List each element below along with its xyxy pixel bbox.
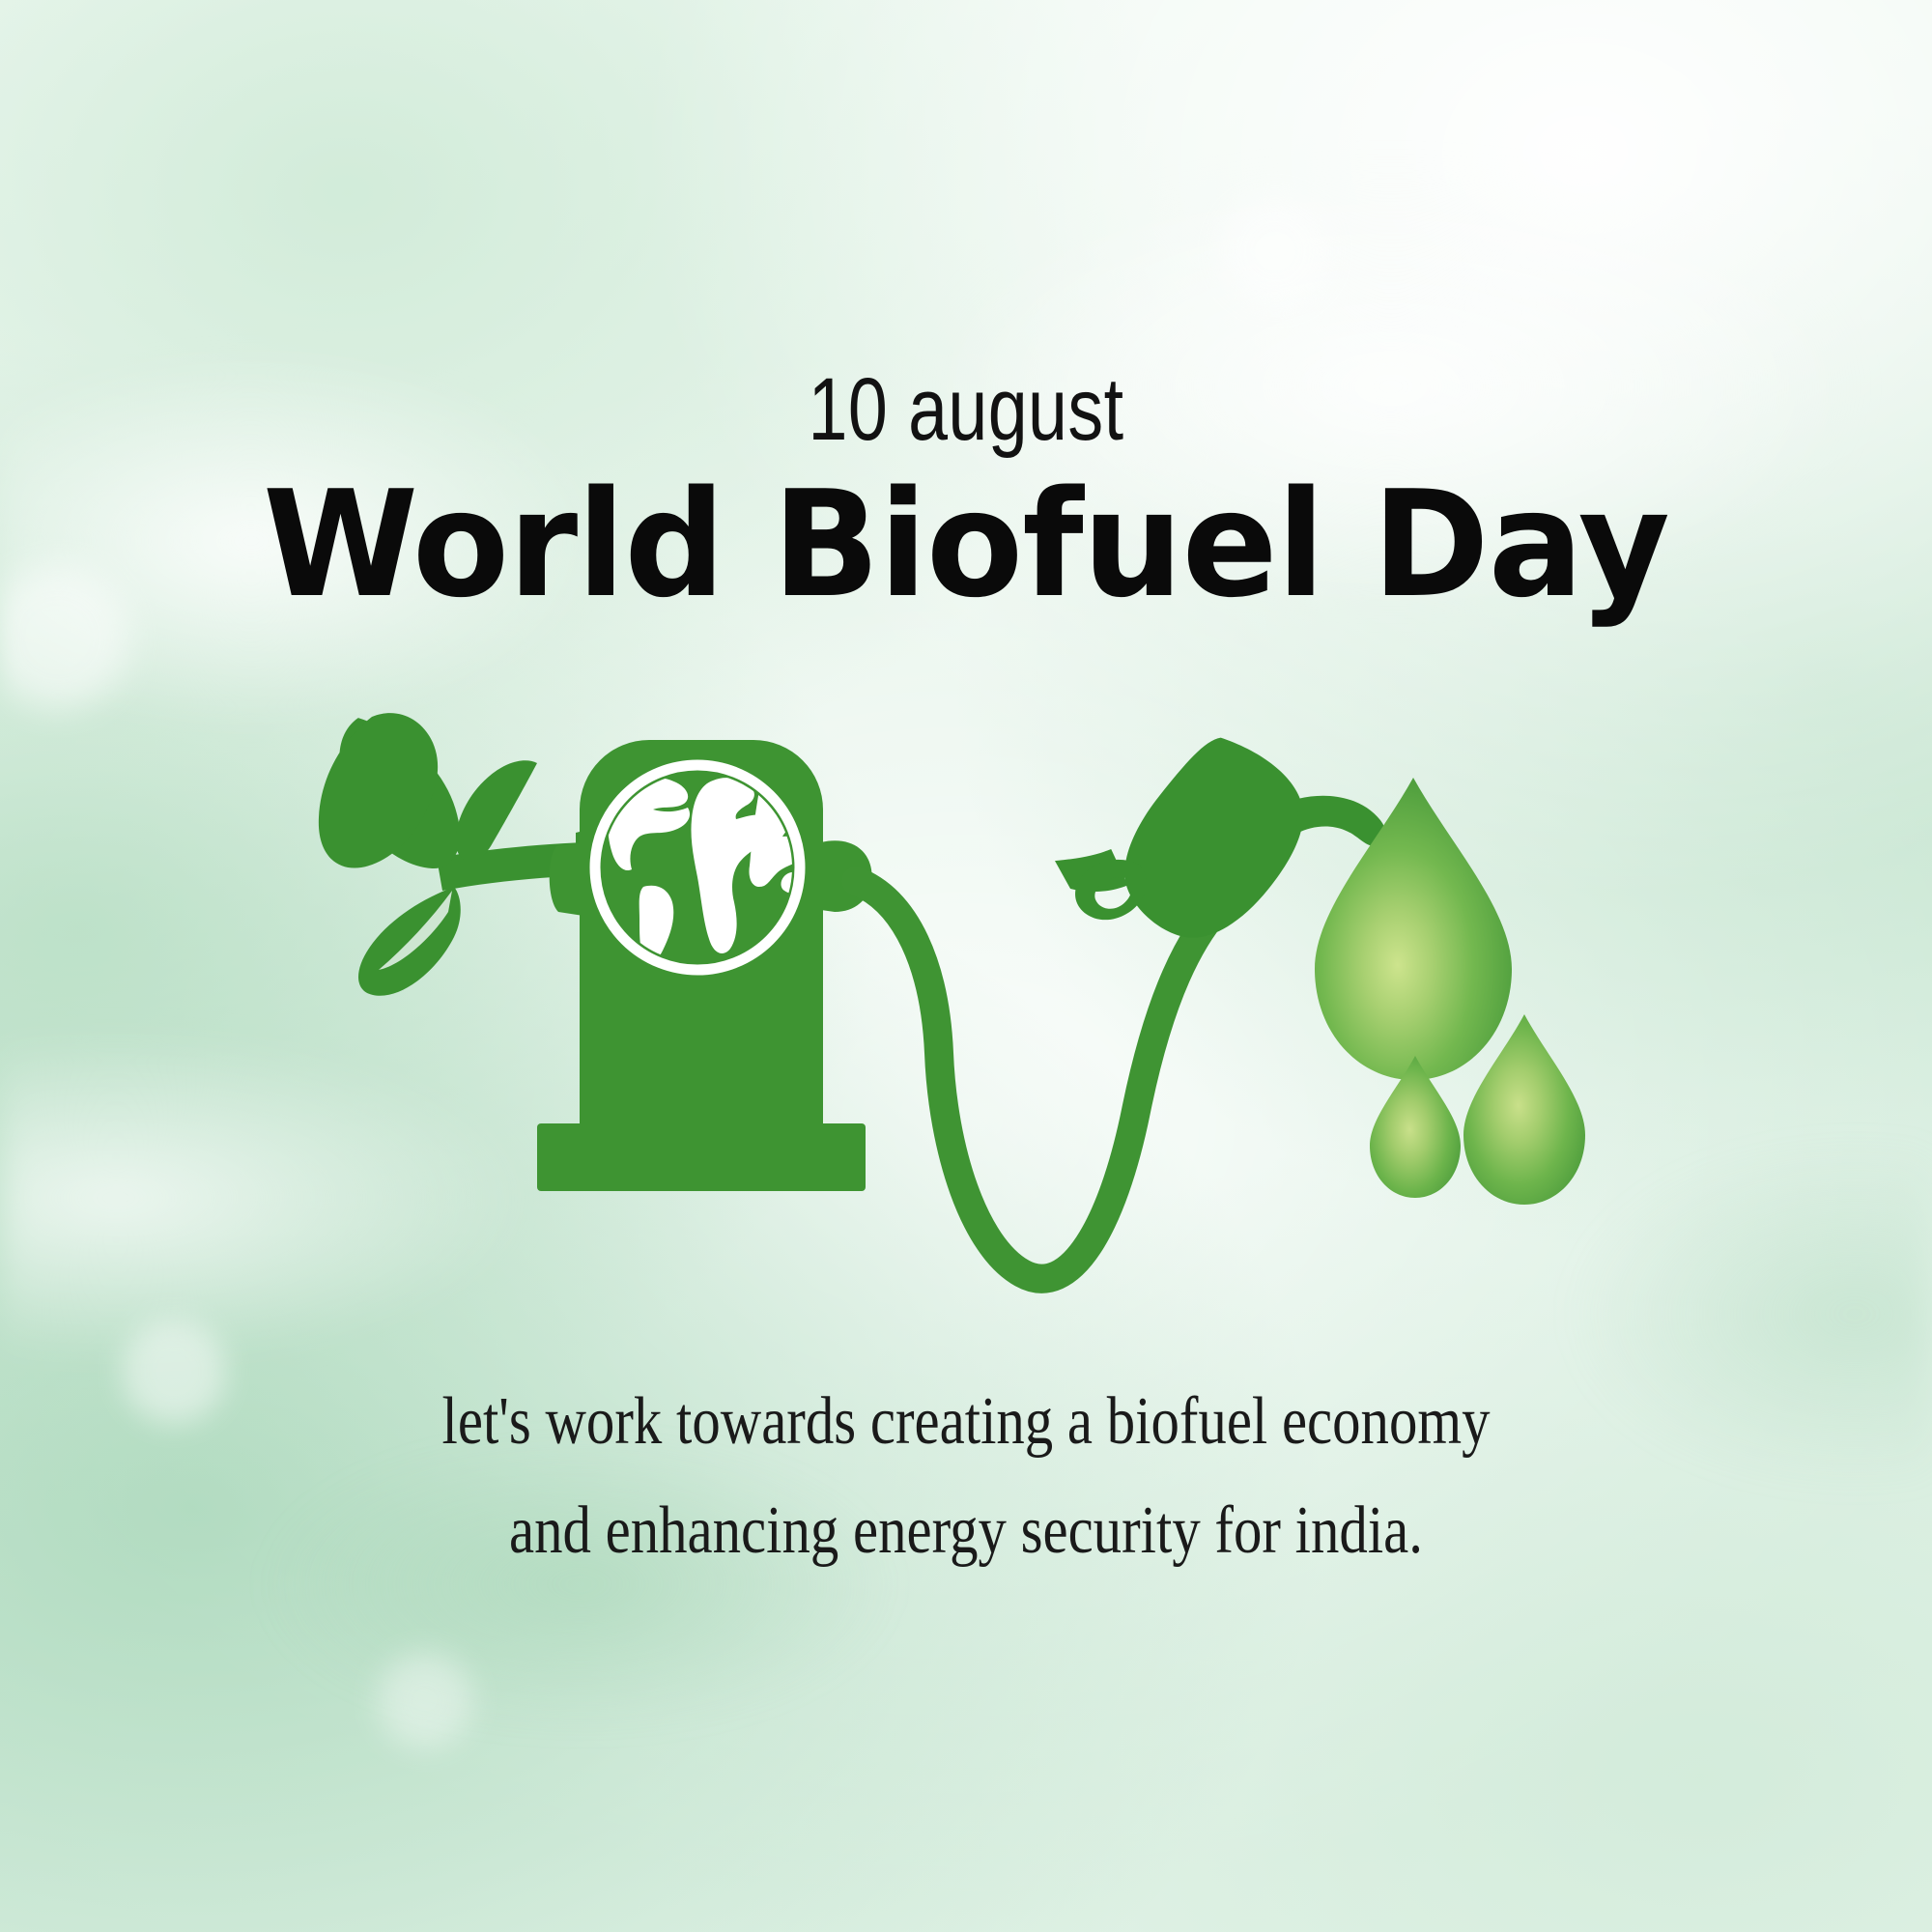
poster-canvas: 10 august World Biofuel Day let's work t… — [0, 0, 1932, 1932]
background-speckle-overlay — [0, 0, 1932, 1932]
tagline-line-1: let's work towards creating a biofuel ec… — [155, 1367, 1777, 1476]
tagline-line-2: and enhancing energy security for india. — [155, 1476, 1777, 1585]
tagline: let's work towards creating a biofuel ec… — [155, 1367, 1777, 1586]
page-title: World Biofuel Day — [39, 469, 1893, 619]
date-label: 10 august — [193, 365, 1739, 454]
